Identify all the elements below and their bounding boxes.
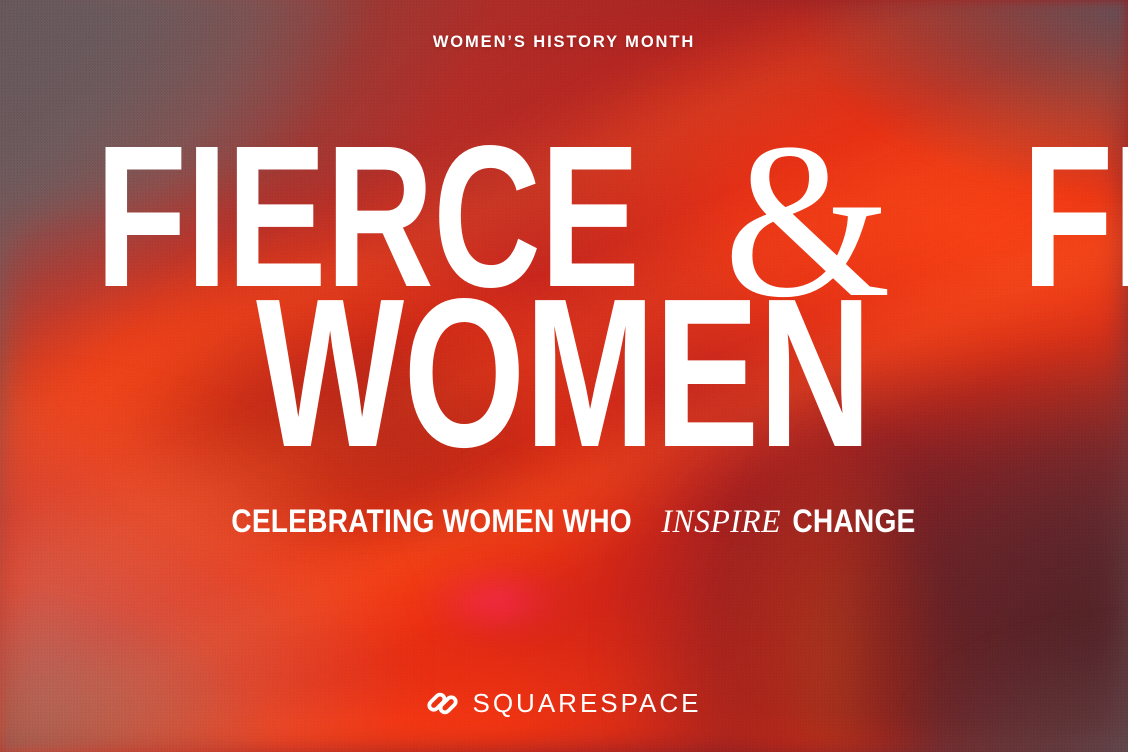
headline-word-fearless: FEARLESS (1022, 136, 1128, 298)
squarespace-wordmark: SQUARESPACE (472, 688, 701, 719)
subhead-line: CELEBRATING WOMEN WHO INSPIRE CHANGE (204, 503, 923, 541)
promo-content: WOMEN’S HISTORY MONTH FIERCE&FEARLESS WO… (0, 0, 1128, 752)
headline-block: FIERCE&FEARLESS WOMEN (0, 124, 1128, 457)
subhead-emphasis-inspire: INSPIRE (662, 504, 781, 541)
subhead-text-before: CELEBRATING WOMEN WHO (232, 503, 633, 540)
squarespace-logo-lockup[interactable]: SQUARESPACE (0, 687, 1128, 720)
headline-word-women: WOMEN (256, 288, 871, 458)
squarespace-logo-icon (426, 687, 459, 720)
womens-history-month-promo-banner: WOMEN’S HISTORY MONTH FIERCE&FEARLESS WO… (0, 0, 1128, 752)
eyebrow-label: WOMEN’S HISTORY MONTH (433, 33, 695, 52)
subhead-text-after: CHANGE (792, 503, 915, 540)
